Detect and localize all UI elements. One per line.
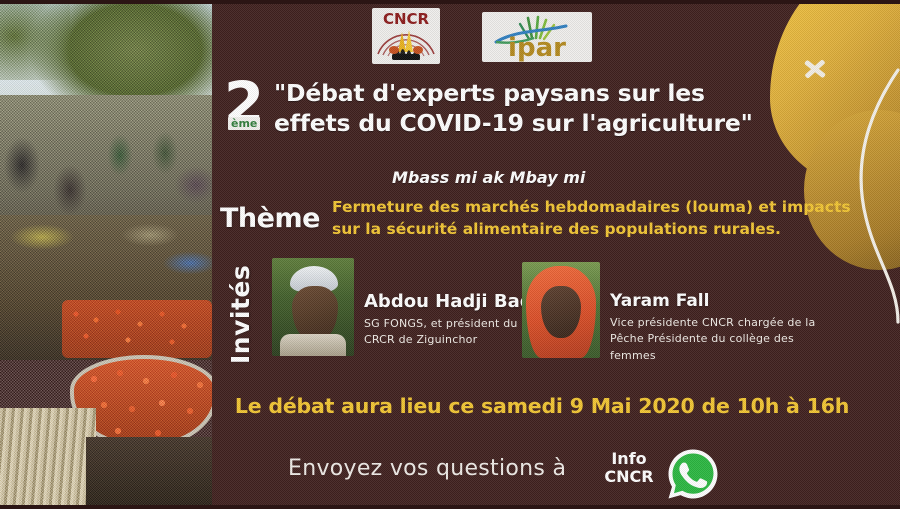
- guest-info: Yaram Fall Vice présidente CNCR chargée …: [600, 262, 840, 364]
- guest-photo-bg: [522, 262, 600, 358]
- theme-line-1: Fermeture des marchés hebdomadaires (lou…: [332, 196, 851, 218]
- title-line-2: effets du COVID-19 sur l'agriculture": [274, 108, 753, 138]
- guest-photo-fall: [522, 262, 600, 358]
- logo-row: CNCR ipar: [372, 8, 652, 66]
- main-title-block: 2 ème "Débat d'experts paysans sur les e…: [220, 78, 860, 138]
- guest-photo-bg: [272, 258, 354, 356]
- event-flyer: CNCR ipar: [0, 0, 900, 509]
- ipar-logo: ipar: [482, 12, 592, 62]
- frame-bottom-border: [0, 505, 900, 509]
- cncr-logo: CNCR: [372, 8, 440, 64]
- guest-role-line-1: SG FONGS, et président du: [364, 316, 545, 333]
- wolof-subtitle: Mbass mi ak Mbay mi: [392, 168, 585, 187]
- guest-item: Abdou Hadji Badji SG FONGS, et président…: [272, 258, 545, 356]
- ipar-wordmark: ipar: [508, 33, 566, 62]
- flyer-content: CNCR ipar: [212, 0, 900, 509]
- svg-text:CNCR: CNCR: [383, 10, 430, 28]
- info-cncr-label: Info CNCR: [594, 450, 664, 486]
- guest-name: Abdou Hadji Badji: [364, 292, 545, 312]
- guest-robe: [280, 334, 346, 356]
- whatsapp-icon[interactable]: [667, 448, 719, 500]
- footer-block: Envoyez vos questions à Info CNCR: [212, 448, 900, 504]
- theme-line-2: sur la sécurité alimentaire des populati…: [332, 218, 851, 240]
- edition-ordinal: ème: [228, 117, 260, 130]
- guest-role-line-1: Vice présidente CNCR chargée de la: [610, 315, 840, 332]
- guest-role-line-2: CRCR de Ziguinchor: [364, 332, 545, 349]
- guest-role: SG FONGS, et président du CRCR de Ziguin…: [364, 316, 545, 349]
- guests-block: Invités Abdou Hadji Badji SG FONGS, et p…: [212, 250, 900, 380]
- photo-grain-overlay: [0, 0, 212, 509]
- guest-info: Abdou Hadji Badji SG FONGS, et président…: [354, 258, 545, 349]
- guest-photo-badji: [272, 258, 354, 356]
- guest-role-line-2: Pêche Présidente du collège des femmes: [610, 331, 840, 364]
- title-text: "Débat d'experts paysans sur les effets …: [274, 78, 753, 138]
- guest-role: Vice présidente CNCR chargée de la Pêche…: [610, 315, 840, 365]
- guest-name: Yaram Fall: [610, 292, 840, 311]
- questions-prompt: Envoyez vos questions à: [288, 456, 566, 481]
- guests-label: Invités: [226, 256, 255, 364]
- frame-top-border: [0, 0, 900, 4]
- title-line-1: "Débat d'experts paysans sur les: [274, 78, 753, 108]
- theme-block: Thème Fermeture des marchés hebdomadaire…: [212, 196, 882, 241]
- market-photo: [0, 0, 212, 509]
- guest-item: Yaram Fall Vice présidente CNCR chargée …: [522, 262, 840, 364]
- edition-numeral: 2 ème: [220, 78, 268, 128]
- theme-label: Thème: [212, 203, 332, 234]
- theme-text: Fermeture des marchés hebdomadaires (lou…: [332, 196, 851, 241]
- info-label-line-1: Info: [594, 450, 664, 468]
- guest-face: [292, 286, 338, 340]
- info-label-line-2: CNCR: [594, 468, 664, 486]
- event-date-line: Le débat aura lieu ce samedi 9 Mai 2020 …: [212, 394, 872, 418]
